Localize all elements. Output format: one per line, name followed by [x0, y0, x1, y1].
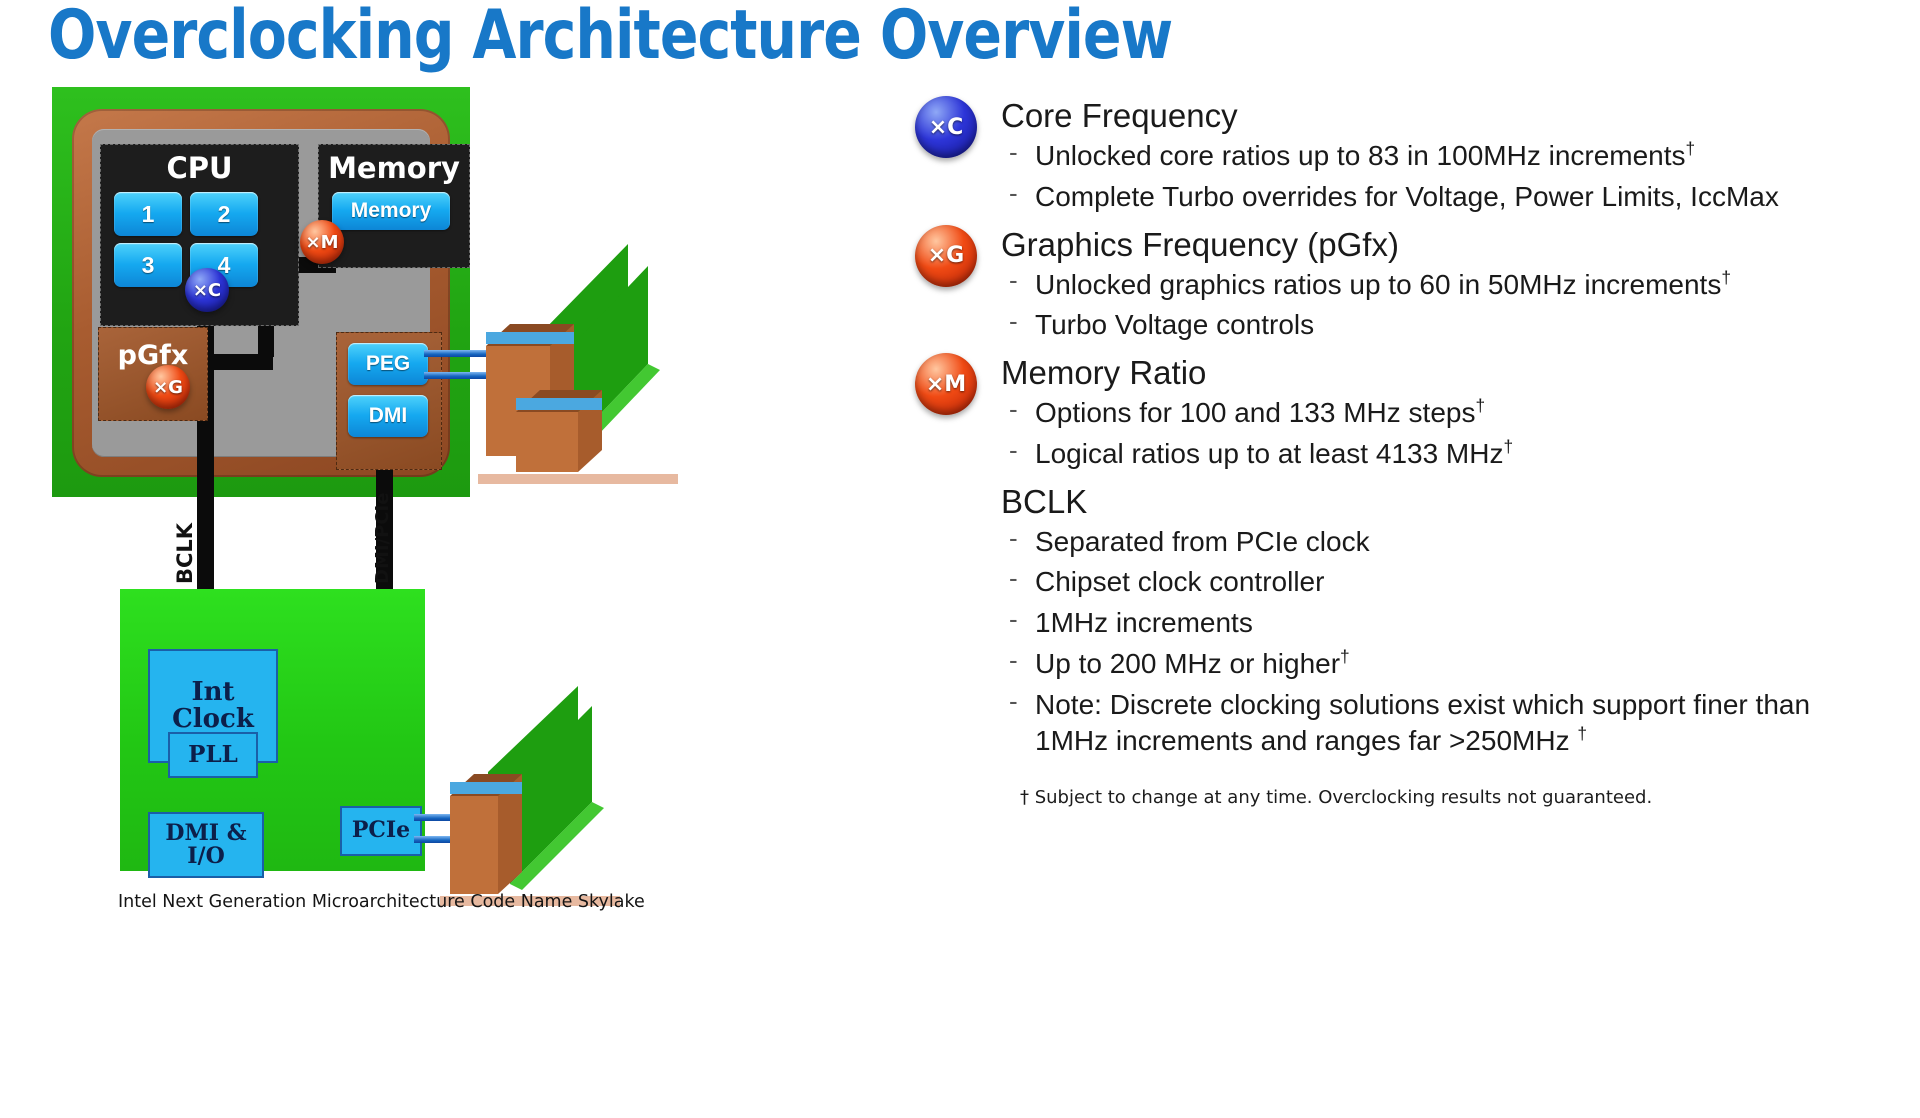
bullet-text: Logical ratios up to at least 4133 MHz† — [1035, 438, 1513, 469]
bullet-text: 1MHz increments — [1035, 607, 1253, 638]
group-bclk: BCLK -Separated from PCIe clock -Chipset… — [925, 482, 1885, 759]
graphics-frequency-badge-diagram: ×G — [146, 365, 190, 409]
dmi-block: DMI — [348, 395, 428, 437]
heading-core-frequency: Core Frequency — [1001, 96, 1885, 136]
cpu-panel-title: CPU — [101, 151, 298, 185]
dmi-io-block: DMI & I/O — [148, 812, 264, 878]
bullet-text: Separated from PCIe clock — [1035, 526, 1370, 557]
bullet-text: Unlocked core ratios up to 83 in 100MHz … — [1035, 140, 1695, 171]
bullet-dash: - — [1009, 603, 1018, 636]
bullet-dash: - — [1009, 562, 1018, 595]
cpu-core-2: 2 — [190, 192, 258, 236]
architecture-diagram: CPU 1 2 3 4 Memory Memory pGfx PEG DMI ×… — [0, 84, 880, 1118]
footnote: † Subject to change at any time. Overclo… — [1020, 787, 1885, 808]
bullet-dash: - — [1009, 393, 1018, 426]
list-item: -Unlocked graphics ratios up to 60 in 50… — [1035, 266, 1885, 302]
bullets-bclk: -Separated from PCIe clock -Chipset cloc… — [925, 524, 1885, 760]
list-item: -Options for 100 and 133 MHz steps† — [1035, 395, 1885, 431]
group-core-frequency: ×C Core Frequency -Unlocked core ratios … — [925, 96, 1885, 215]
bullet-dash: - — [1009, 685, 1018, 718]
list-item: -Note: Discrete clocking solutions exist… — [1035, 687, 1885, 759]
bullet-dash: - — [1009, 644, 1018, 677]
int-clock-label-line2: Clock — [172, 706, 254, 733]
list-item: -Separated from PCIe clock — [1035, 524, 1885, 560]
dmi-io-label-line1: DMI & — [165, 822, 246, 845]
bullets-graphics-frequency: -Unlocked graphics ratios up to 60 in 50… — [925, 266, 1885, 343]
memory-block: Memory — [332, 192, 450, 230]
pll-block: PLL — [168, 732, 258, 778]
heading-memory-ratio: Memory Ratio — [1001, 353, 1885, 393]
group-memory-ratio: ×M Memory Ratio -Options for 100 and 133… — [925, 353, 1885, 472]
bullet-dash: - — [1009, 434, 1018, 467]
list-item: -1MHz increments — [1035, 605, 1885, 641]
dimm-modules-upper — [478, 224, 678, 484]
int-clock-label-line1: Int — [191, 679, 234, 706]
bullet-text: Turbo Voltage controls — [1035, 309, 1314, 340]
bullet-dash: - — [1009, 264, 1018, 297]
cpu-core-3: 3 — [114, 243, 182, 287]
list-item: -Turbo Voltage controls — [1035, 307, 1885, 343]
peg-block: PEG — [348, 343, 428, 385]
bullet-dash: - — [1009, 177, 1018, 210]
pcie-block: PCIe — [340, 806, 422, 856]
bullet-dash: - — [1009, 522, 1018, 555]
bullet-text: Up to 200 MHz or higher† — [1035, 648, 1350, 679]
bullets-core-frequency: -Unlocked core ratios up to 83 in 100MHz… — [925, 138, 1885, 215]
dmi-io-label-line2: I/O — [187, 845, 225, 868]
dimm-svg-upper — [478, 224, 678, 484]
pgfx-label: pGfx — [99, 340, 207, 371]
heading-bclk: BCLK — [1001, 482, 1885, 522]
page-title: Overclocking Architecture Overview — [48, 2, 1172, 70]
bullets-memory-ratio: -Options for 100 and 133 MHz steps† -Log… — [925, 395, 1885, 472]
list-item: -Up to 200 MHz or higher† — [1035, 646, 1885, 682]
list-item: -Complete Turbo overrides for Voltage, P… — [1035, 179, 1885, 215]
bullet-text: Unlocked graphics ratios up to 60 in 50M… — [1035, 269, 1731, 300]
pcie-svg — [440, 684, 620, 914]
cpu-core-1: 1 — [114, 192, 182, 236]
pcie-slot-card — [440, 684, 620, 914]
list-item: -Chipset clock controller — [1035, 564, 1885, 600]
group-graphics-frequency: ×G Graphics Frequency (pGfx) -Unlocked g… — [925, 225, 1885, 344]
list-item: -Logical ratios up to at least 4133 MHz† — [1035, 436, 1885, 472]
memory-panel-title: Memory — [319, 151, 469, 185]
heading-graphics-frequency: Graphics Frequency (pGfx) — [1001, 225, 1885, 265]
bullet-text: Chipset clock controller — [1035, 566, 1324, 597]
dmi-pcie-bus-label: DMI/PCIe — [372, 493, 393, 584]
bullet-text: Options for 100 and 133 MHz steps† — [1035, 397, 1485, 428]
list-item: -Unlocked core ratios up to 83 in 100MHz… — [1035, 138, 1885, 174]
bullet-dash: - — [1009, 305, 1018, 338]
bullet-text: Complete Turbo overrides for Voltage, Po… — [1035, 181, 1779, 212]
bullet-text: Note: Discrete clocking solutions exist … — [1035, 689, 1810, 756]
core-frequency-badge-diagram: ×C — [185, 268, 229, 312]
memory-ratio-badge: ×M — [915, 353, 977, 415]
memory-ratio-badge-diagram: ×M — [300, 220, 344, 264]
core-frequency-badge: ×C — [915, 96, 977, 158]
diagram-caption: Intel Next Generation Microarchitecture … — [118, 892, 738, 912]
feature-list: ×C Core Frequency -Unlocked core ratios … — [925, 96, 1885, 808]
bullet-dash: - — [1009, 136, 1018, 169]
bclk-bus-label: BCLK — [173, 523, 197, 584]
graphics-frequency-badge: ×G — [915, 225, 977, 287]
